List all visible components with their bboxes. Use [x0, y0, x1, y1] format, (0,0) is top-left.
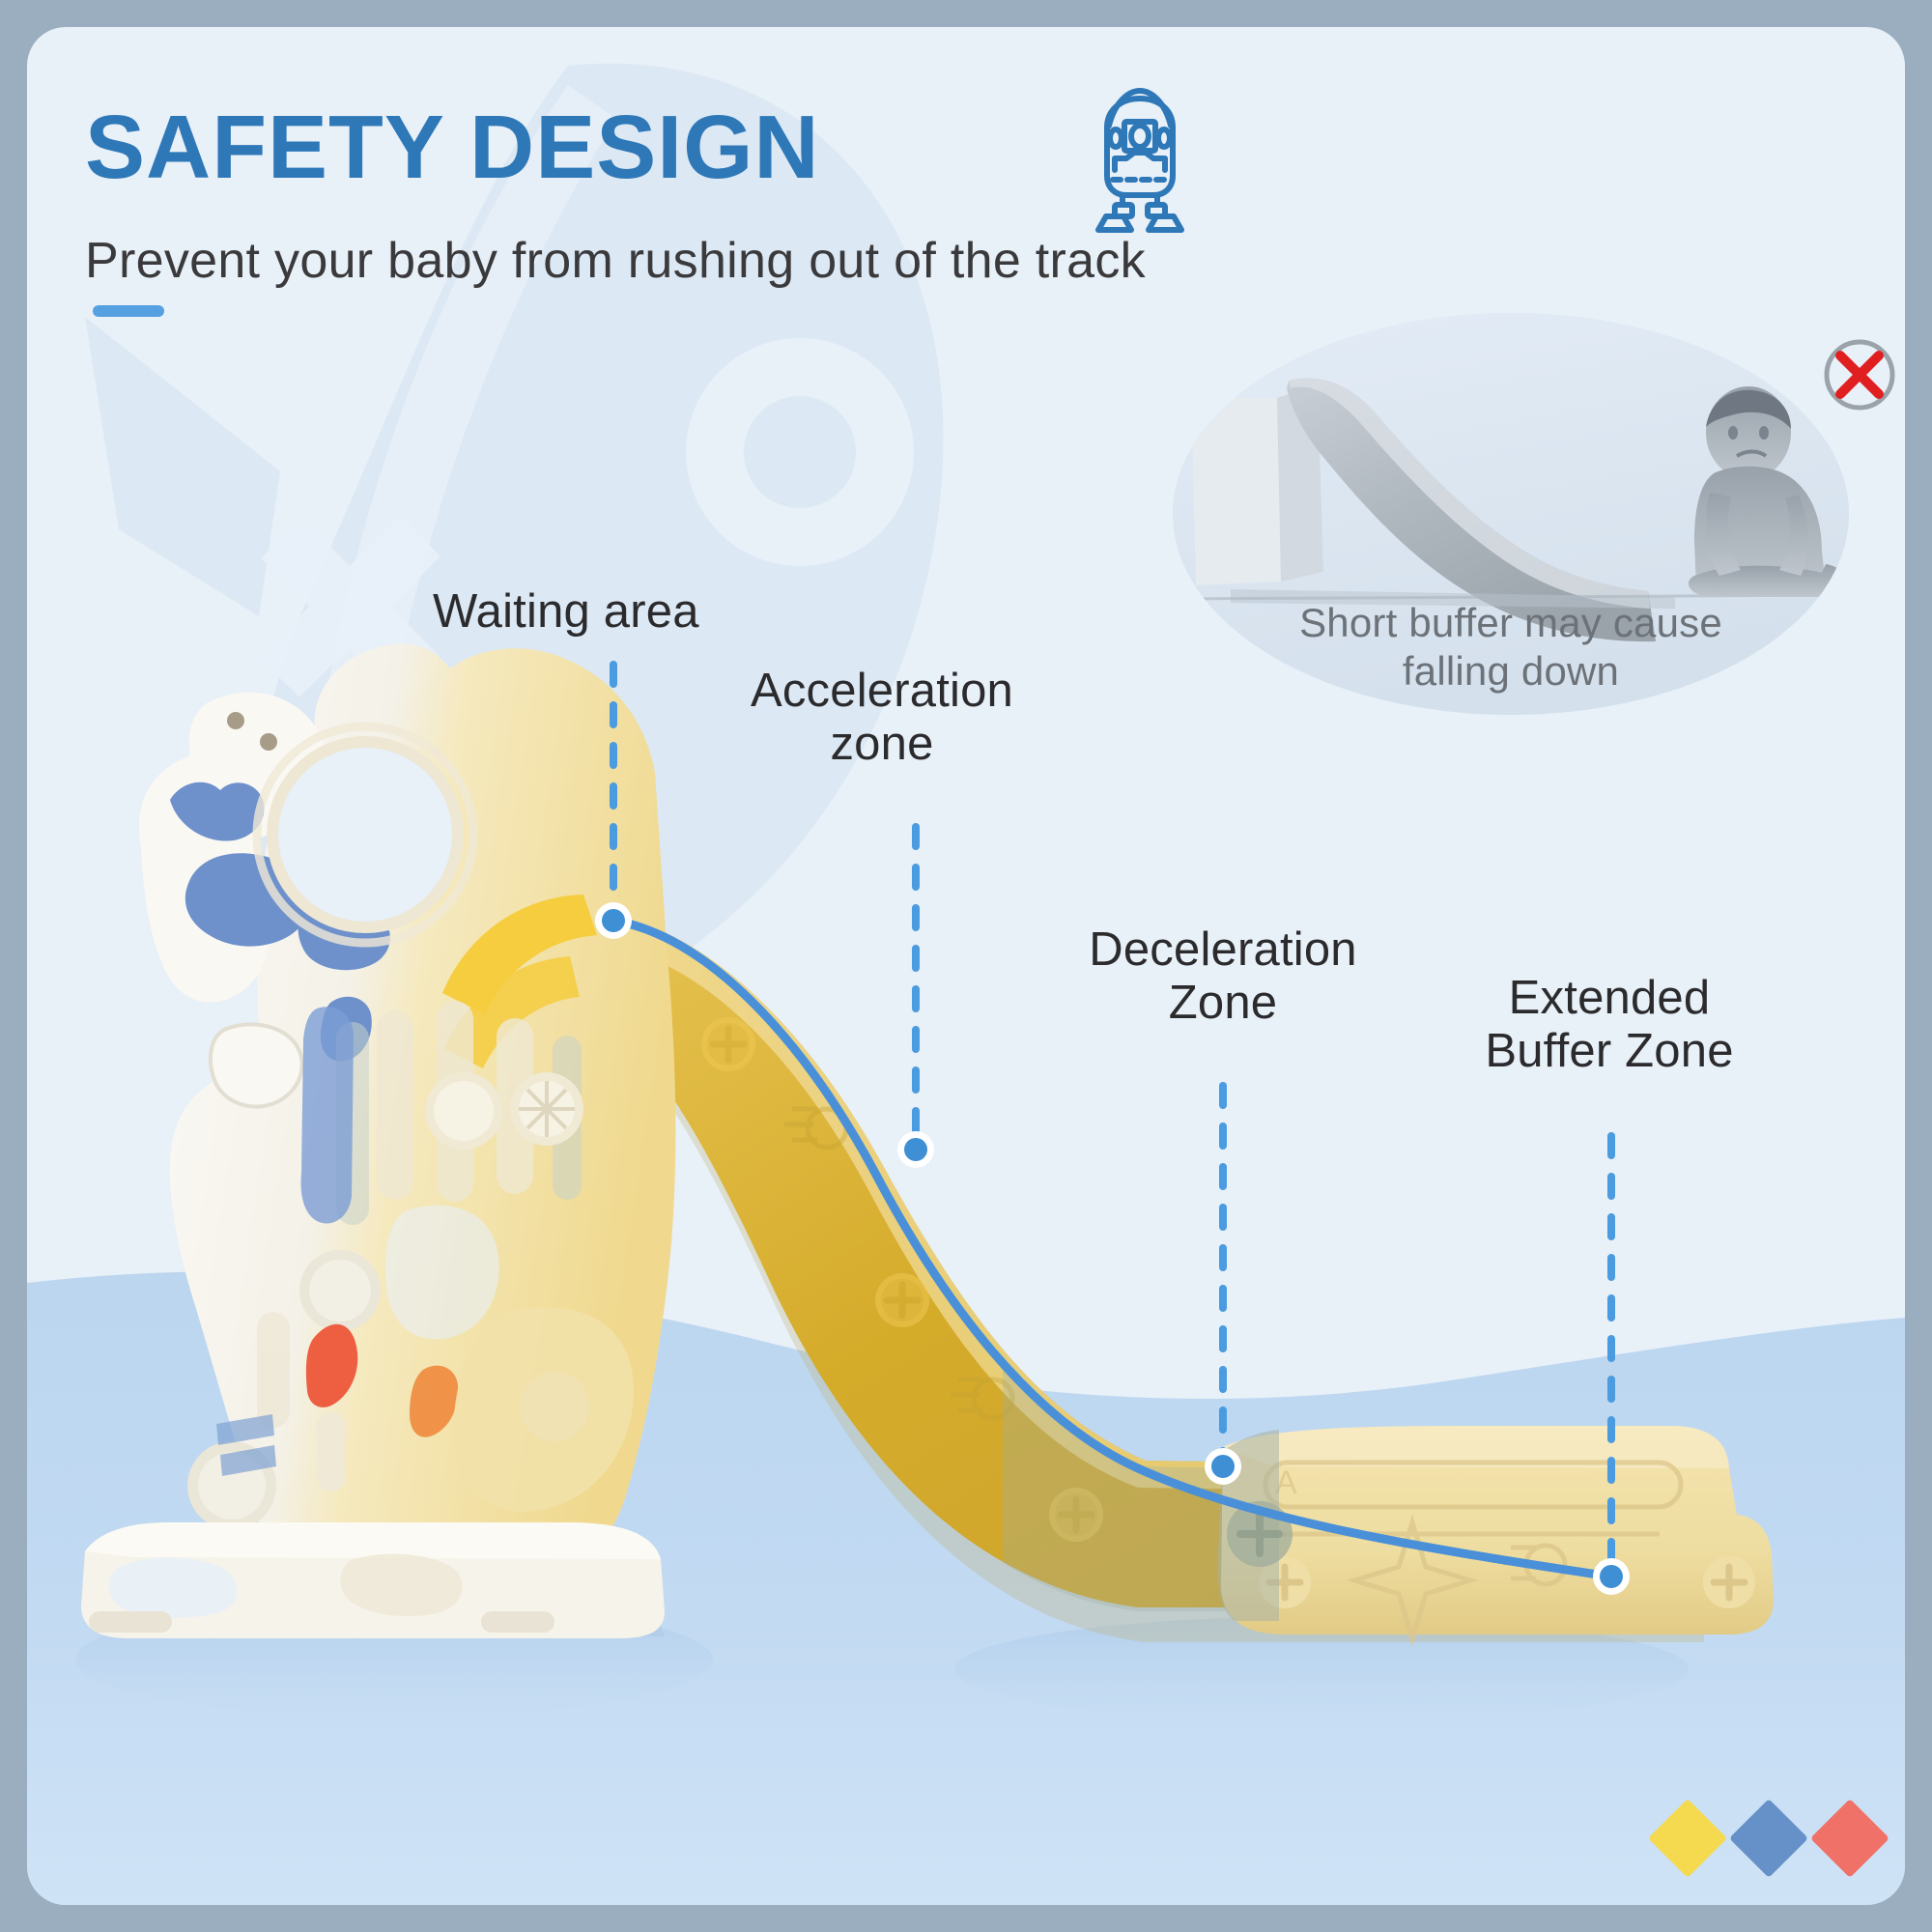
- extended-line-2: Buffer Zone: [1368, 1025, 1851, 1078]
- page-title: SAFETY DESIGN: [85, 102, 820, 192]
- waiting-area-text: Waiting area: [433, 585, 699, 638]
- acceleration-line-2: zone: [665, 718, 1099, 771]
- warning-inset-caption: Short buffer may cause falling down: [1173, 599, 1849, 695]
- callout-label-acceleration-zone: Acceleration zone: [665, 665, 1099, 771]
- ground-band: [27, 27, 1905, 1905]
- forbidden-x-icon: [1819, 334, 1900, 415]
- page-subtitle: Prevent your baby from rushing out of th…: [85, 232, 1146, 290]
- decor-diamonds: [1660, 1803, 1882, 1880]
- accent-underline: [93, 305, 164, 317]
- diamond-red: [1810, 1799, 1889, 1878]
- inset-caption-line-2: falling down: [1173, 647, 1849, 696]
- deceleration-line-1: Deceleration: [972, 923, 1474, 977]
- acceleration-line-1: Acceleration: [665, 665, 1099, 718]
- inset-caption-line-1: Short buffer may cause: [1173, 599, 1849, 647]
- rocket-watermark: [27, 27, 1905, 1905]
- callout-label-waiting-area: Waiting area: [433, 585, 699, 639]
- product-slide-photo: A: [27, 27, 1905, 1905]
- diamond-blue: [1729, 1799, 1808, 1878]
- svg-text:A: A: [1275, 1464, 1297, 1501]
- extended-line-1: Extended: [1368, 972, 1851, 1025]
- diamond-yellow: [1648, 1799, 1727, 1878]
- leader-lines: [27, 27, 1905, 1905]
- callout-label-extended-buffer-zone: Extended Buffer Zone: [1368, 972, 1851, 1078]
- rocket-icon: [1053, 83, 1227, 238]
- infographic-card: SAFETY DESIGN: [27, 27, 1905, 1905]
- infographic-root: SAFETY DESIGN: [0, 0, 1932, 1932]
